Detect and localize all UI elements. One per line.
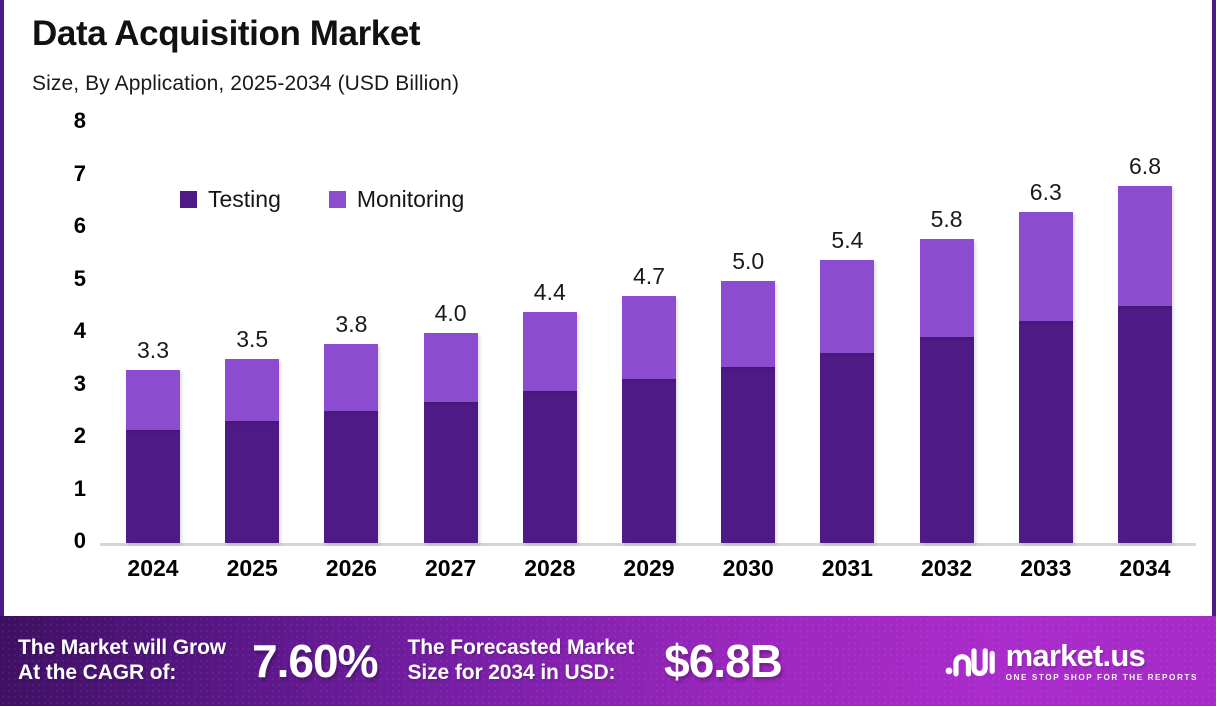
bar-value-label: 4.7 [633, 263, 665, 290]
bar-group[interactable]: 3.5 [225, 359, 279, 543]
x-axis-tick: 2033 [996, 555, 1096, 582]
page-title: Data Acquisition Market [32, 14, 420, 54]
bar-value-label: 3.3 [137, 337, 169, 364]
chart-plot-area: 876543210 Testing Monitoring 3.33.53.84.… [4, 110, 1212, 610]
bar-segment-testing[interactable] [126, 430, 180, 543]
bar-segment-monitoring[interactable] [424, 333, 478, 402]
bar-group[interactable]: 4.4 [523, 312, 577, 543]
bar-value-label: 4.4 [534, 279, 566, 306]
bar-group[interactable]: 5.4 [820, 260, 874, 544]
footer-banner: The Market will Grow At the CAGR of: 7.6… [0, 616, 1216, 706]
bar-segment-monitoring[interactable] [126, 370, 180, 430]
bar-segment-monitoring[interactable] [1118, 186, 1172, 306]
bar-segment-monitoring[interactable] [1019, 212, 1073, 321]
y-axis-tick: 7 [74, 161, 86, 187]
y-axis-tick: 2 [74, 423, 86, 449]
cagr-value: 7.60% [252, 634, 377, 688]
bar-segment-testing[interactable] [424, 402, 478, 543]
bar-segment-monitoring[interactable] [721, 281, 775, 367]
bar-segment-testing[interactable] [820, 353, 874, 543]
page-subtitle: Size, By Application, 2025-2034 (USD Bil… [32, 72, 459, 96]
y-axis: 876543210 [4, 110, 100, 550]
forecast-value: $6.8B [664, 634, 782, 688]
x-axis-tick: 2026 [301, 555, 401, 582]
bar-group[interactable]: 5.0 [721, 281, 775, 544]
infographic-page: Data Acquisition Market Size, By Applica… [0, 0, 1216, 706]
logo-wordmark: market.us [1006, 640, 1198, 671]
bar-segment-monitoring[interactable] [622, 296, 676, 379]
cagr-caption: The Market will Grow At the CAGR of: [18, 636, 226, 686]
bar-group[interactable]: 4.0 [424, 333, 478, 543]
market-us-waveform-icon [945, 644, 997, 678]
bar-value-label: 6.8 [1129, 153, 1161, 180]
bar-segment-testing[interactable] [721, 367, 775, 543]
forecast-caption: The Forecasted Market Size for 2034 in U… [407, 636, 634, 686]
bar-value-label: 3.8 [335, 311, 367, 338]
forecast-caption-line1: The Forecasted Market [407, 636, 634, 661]
x-axis-baseline [100, 543, 1196, 546]
y-axis-tick: 3 [74, 371, 86, 397]
bar-segment-testing[interactable] [1118, 306, 1172, 543]
bar-value-label: 5.4 [831, 227, 863, 254]
x-axis-tick: 2029 [599, 555, 699, 582]
cagr-caption-line2: At the CAGR of: [18, 661, 226, 686]
bar-segment-testing[interactable] [523, 391, 577, 543]
bar-group[interactable]: 3.8 [324, 344, 378, 544]
bar-value-label: 6.3 [1030, 179, 1062, 206]
bar-segment-testing[interactable] [1019, 321, 1073, 543]
x-axis-tick: 2028 [500, 555, 600, 582]
y-axis-tick: 1 [74, 476, 86, 502]
bar-segment-monitoring[interactable] [820, 260, 874, 353]
logo-text: market.us ONE STOP SHOP FOR THE REPORTS [1006, 640, 1198, 682]
x-axis-tick: 2027 [401, 555, 501, 582]
x-axis-tick: 2031 [797, 555, 897, 582]
bar-group[interactable]: 3.3 [126, 370, 180, 543]
x-axis-tick: 2025 [202, 555, 302, 582]
brand-logo[interactable]: market.us ONE STOP SHOP FOR THE REPORTS [945, 640, 1198, 682]
bar-segment-monitoring[interactable] [920, 239, 974, 337]
bar-group[interactable]: 5.8 [920, 239, 974, 544]
forecast-block: The Forecasted Market Size for 2034 in U… [407, 634, 781, 688]
x-axis: 2024202520262027202820292030203120322033… [100, 555, 1196, 595]
y-axis-tick: 0 [74, 528, 86, 554]
bar-value-label: 3.5 [236, 326, 268, 353]
bar-segment-testing[interactable] [225, 421, 279, 543]
bar-group[interactable]: 6.8 [1118, 186, 1172, 543]
bar-segment-testing[interactable] [920, 337, 974, 543]
bar-value-label: 4.0 [435, 300, 467, 327]
x-axis-tick: 2030 [698, 555, 798, 582]
bar-segment-monitoring[interactable] [225, 359, 279, 420]
bar-group[interactable]: 4.7 [622, 296, 676, 543]
y-axis-tick: 5 [74, 266, 86, 292]
x-axis-tick: 2034 [1095, 555, 1195, 582]
bar-value-label: 5.8 [931, 206, 963, 233]
bar-segment-testing[interactable] [324, 411, 378, 543]
bar-segment-monitoring[interactable] [324, 344, 378, 411]
logo-tagline: ONE STOP SHOP FOR THE REPORTS [1006, 674, 1198, 682]
cagr-block: The Market will Grow At the CAGR of: 7.6… [18, 634, 377, 688]
y-axis-tick: 4 [74, 318, 86, 344]
y-axis-tick: 8 [74, 108, 86, 134]
bar-value-label: 5.0 [732, 248, 764, 275]
bar-series-container: 3.33.53.84.04.44.75.05.45.86.36.8 [100, 110, 1196, 543]
x-axis-tick: 2024 [103, 555, 203, 582]
cagr-caption-line1: The Market will Grow [18, 636, 226, 661]
forecast-caption-line2: Size for 2034 in USD: [407, 661, 634, 686]
bar-segment-monitoring[interactable] [523, 312, 577, 391]
bar-segment-testing[interactable] [622, 379, 676, 543]
y-axis-tick: 6 [74, 213, 86, 239]
bar-group[interactable]: 6.3 [1019, 212, 1073, 543]
x-axis-tick: 2032 [897, 555, 997, 582]
